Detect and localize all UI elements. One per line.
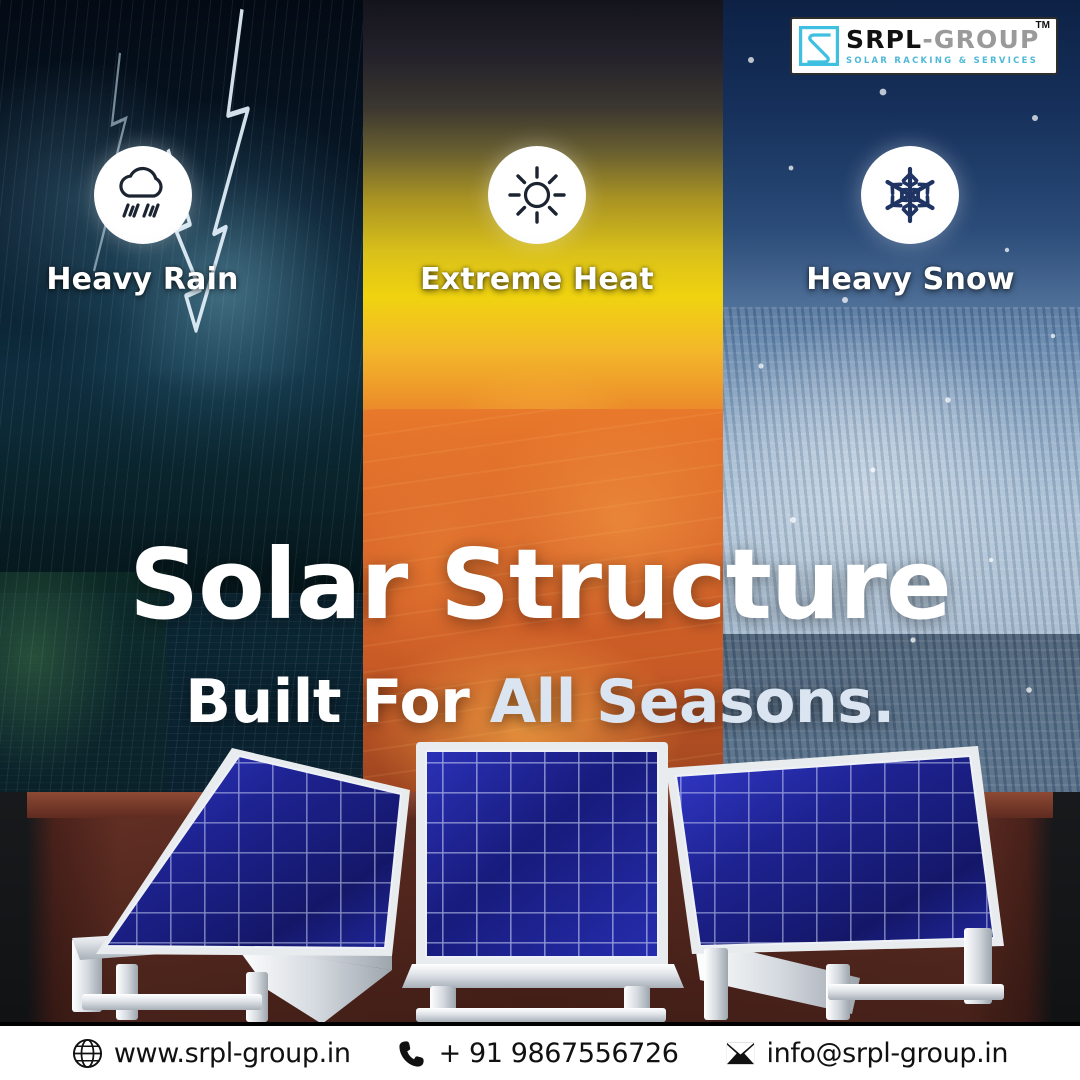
subheadline-white-part: Built For	[185, 667, 489, 737]
solar-panel-mounting-array	[0, 732, 1080, 1022]
subheadline-blue-part: All Seasons.	[490, 667, 895, 737]
contact-website[interactable]: www.srpl-group.in	[72, 1038, 351, 1069]
phone-icon	[397, 1038, 428, 1069]
contact-bar: www.srpl-group.in + 91 9867556726 info@s…	[0, 1022, 1080, 1080]
brand-wordmark: SRPL-GROUP SOLAR RACKING & SERVICES TM	[846, 27, 1048, 65]
brand-name-part1: SRPL	[846, 25, 922, 54]
poster-canvas: SRPL-GROUP SOLAR RACKING & SERVICES TM	[0, 0, 1080, 1080]
subheadline: Built For All Seasons.	[0, 672, 1080, 732]
solar-panel-right	[666, 746, 1004, 1020]
headline: Solar Structure	[0, 536, 1080, 633]
brand-tagline: SOLAR RACKING & SERVICES	[846, 55, 1048, 65]
brand-logo[interactable]: SRPL-GROUP SOLAR RACKING & SERVICES TM	[790, 17, 1058, 75]
contact-email-text: info@srpl-group.in	[767, 1038, 1009, 1069]
envelope-icon	[725, 1038, 756, 1069]
brand-name-dash: -	[922, 25, 934, 54]
contact-phone[interactable]: + 91 9867556726	[397, 1038, 679, 1069]
contact-phone-text: + 91 9867556726	[439, 1038, 679, 1069]
contact-email[interactable]: info@srpl-group.in	[725, 1038, 1009, 1069]
solar-panel-center	[402, 742, 684, 1022]
brand-name-part2: GROUP	[934, 25, 1040, 54]
contact-website-text: www.srpl-group.in	[114, 1038, 351, 1069]
srpl-s-monogram-icon	[799, 26, 839, 66]
globe-icon	[72, 1038, 103, 1069]
solar-panel-left	[72, 748, 410, 1022]
trademark-symbol: TM	[1036, 20, 1050, 31]
